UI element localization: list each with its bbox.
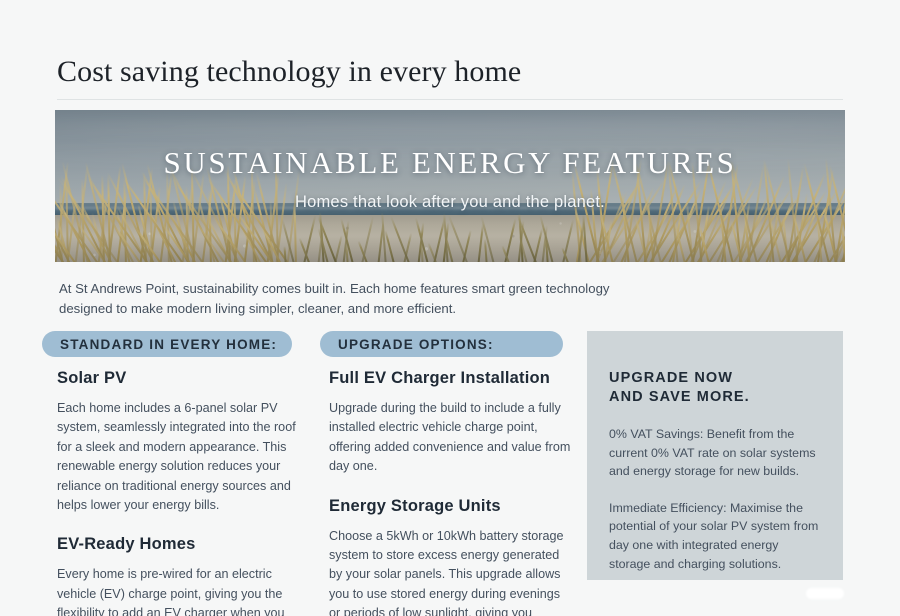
hero-text-block: SUSTAINABLE ENERGY FEATURES Homes that l… [55, 145, 845, 212]
feature-body: Upgrade during the build to include a fu… [329, 399, 574, 477]
feature-body: Choose a 5kWh or 10kWh battery storage s… [329, 527, 574, 616]
promo-heading-line1: UPGRADE NOW [609, 369, 821, 388]
hero-title: SUSTAINABLE ENERGY FEATURES [55, 145, 845, 181]
section-pill-upgrade: UPGRADE OPTIONS: [320, 331, 563, 357]
feature-body: Each home includes a 6-panel solar PV sy… [57, 399, 302, 515]
page-root: Cost saving technology in every home SUS… [0, 0, 900, 616]
feature-block: Energy Storage Units Choose a 5kWh or 10… [329, 497, 574, 616]
feature-block: EV-Ready Homes Every home is pre-wired f… [57, 535, 302, 616]
intro-paragraph: At St Andrews Point, sustainability come… [59, 279, 659, 319]
title-divider [57, 99, 843, 100]
section-pill-upgrade-label: UPGRADE OPTIONS: [338, 337, 494, 352]
feature-heading: EV-Ready Homes [57, 535, 302, 554]
feature-heading: Solar PV [57, 369, 302, 388]
upgrade-promo-panel: UPGRADE NOW AND SAVE MORE. 0% VAT Saving… [587, 331, 843, 580]
promo-paragraph: Immediate Efficiency: Maximise the poten… [609, 499, 821, 573]
feature-body: Every home is pre-wired for an electric … [57, 565, 302, 616]
hero-subtitle: Homes that look after you and the planet… [55, 193, 845, 212]
page-title: Cost saving technology in every home [57, 55, 521, 89]
hero-banner: SUSTAINABLE ENERGY FEATURES Homes that l… [55, 110, 845, 262]
column-standard: Solar PV Each home includes a 6-panel so… [57, 369, 302, 616]
section-pill-standard-label: STANDARD IN EVERY HOME: [60, 337, 277, 352]
feature-heading: Full EV Charger Installation [329, 369, 574, 388]
promo-heading-line2: AND SAVE MORE. [609, 388, 821, 407]
feature-heading: Energy Storage Units [329, 497, 574, 516]
section-pill-standard: STANDARD IN EVERY HOME: [42, 331, 292, 357]
feature-block: Solar PV Each home includes a 6-panel so… [57, 369, 302, 515]
promo-paragraph: 0% VAT Savings: Benefit from the current… [609, 425, 821, 481]
column-upgrade: Full EV Charger Installation Upgrade dur… [329, 369, 574, 616]
corner-chip [806, 588, 844, 599]
promo-heading: UPGRADE NOW AND SAVE MORE. [609, 369, 821, 407]
feature-block: Full EV Charger Installation Upgrade dur… [329, 369, 574, 477]
